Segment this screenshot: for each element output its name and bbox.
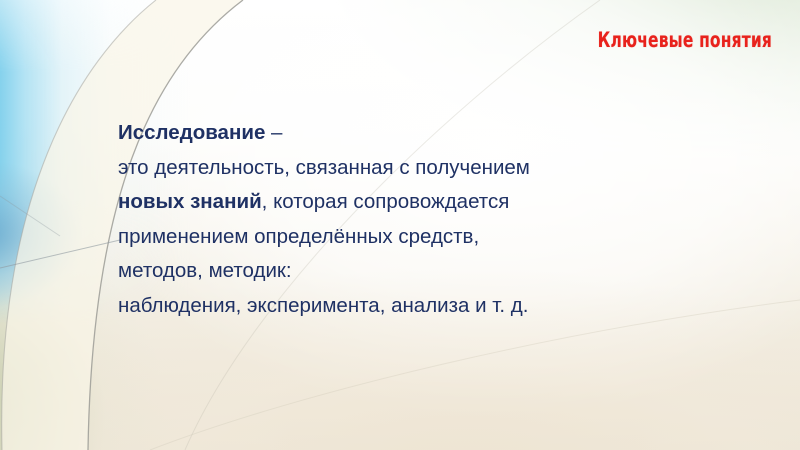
background-diagonal-line bbox=[0, 240, 120, 268]
slide-title: Ключевые понятия bbox=[467, 27, 772, 53]
body-text-run: методов, методик: bbox=[118, 259, 292, 282]
body-text-run: – bbox=[265, 121, 282, 144]
body-text-emphasis: новых знаний bbox=[118, 190, 262, 213]
background-diagonal-line-upper bbox=[0, 196, 60, 236]
body-text-line-4: применением определённых средств, bbox=[118, 220, 758, 255]
body-text-run: , которая сопровождается bbox=[262, 190, 510, 213]
body-text-run: наблюдения, эксперимента, анализа и т. д… bbox=[118, 294, 528, 317]
body-text-line-5: методов, методик: bbox=[118, 254, 758, 289]
body-text-run: это деятельность, связанная с получением bbox=[118, 156, 530, 179]
body-text-emphasis: Исследование bbox=[118, 121, 265, 144]
body-text-line-2: это деятельность, связанная с получением bbox=[118, 151, 758, 186]
presentation-slide: Ключевые понятия Исследование – это деят… bbox=[0, 0, 800, 450]
body-text-line-1: Исследование – bbox=[118, 116, 758, 151]
body-text-line-3: новых знаний, которая сопровождается bbox=[118, 185, 758, 220]
body-text-block: Исследование – это деятельность, связанн… bbox=[118, 116, 758, 324]
body-text-line-6: наблюдения, эксперимента, анализа и т. д… bbox=[118, 289, 758, 324]
body-text-run: применением определённых средств, bbox=[118, 225, 479, 248]
